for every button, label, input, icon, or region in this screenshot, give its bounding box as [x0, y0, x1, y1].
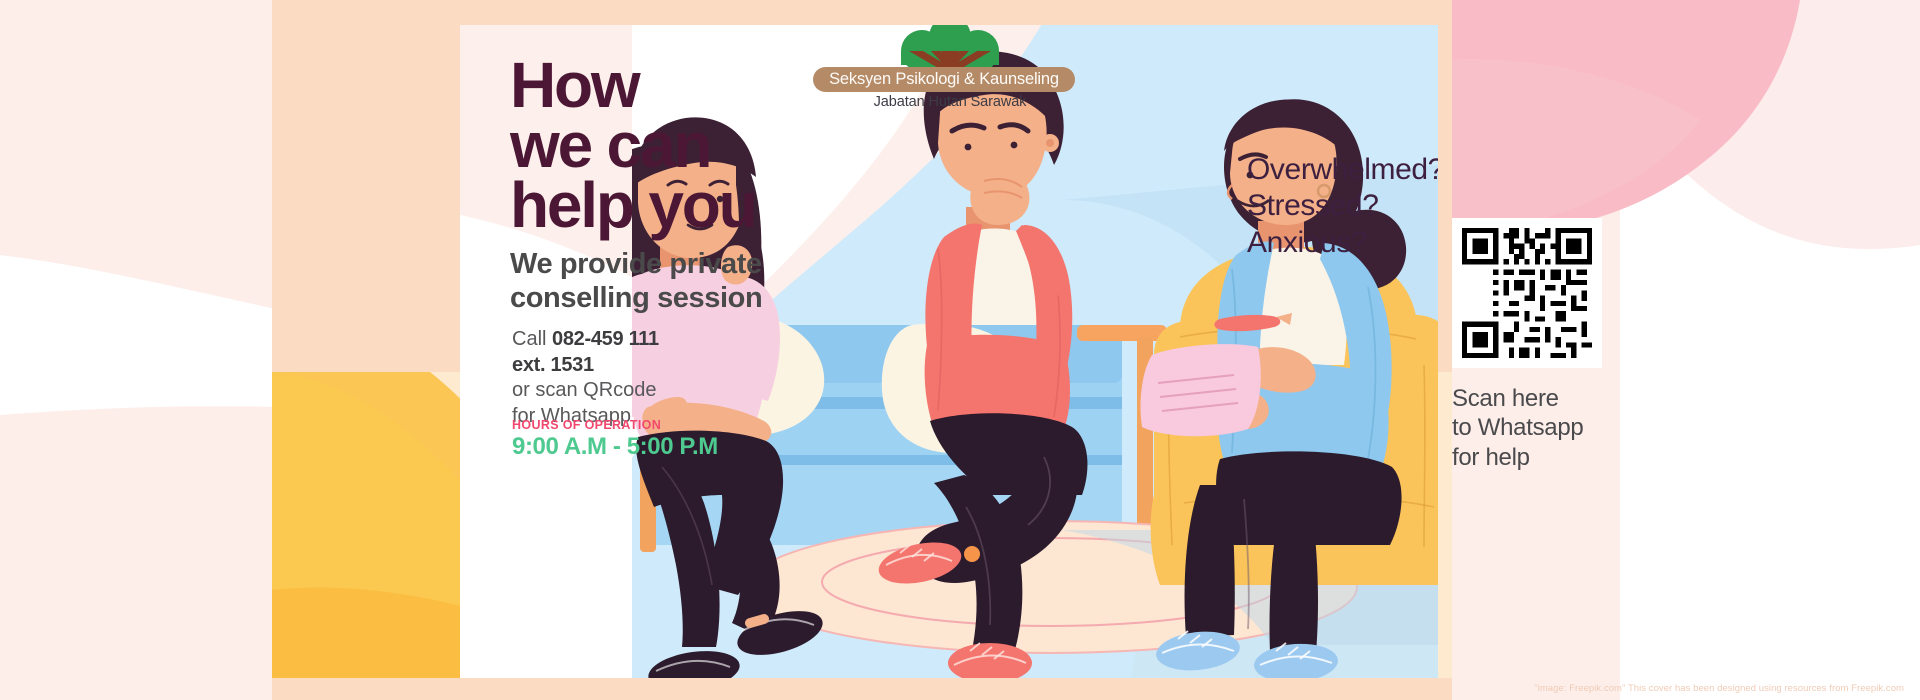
- phone-extension: ext. 1531: [512, 354, 594, 376]
- logo-banner-text: Seksyen Psikologi & Kaunseling: [813, 67, 1075, 92]
- contact-block: Call 082-459 111 ext. 1531 or scan QRcod…: [512, 327, 762, 429]
- image-credit: "image: Freepik.com" This cover has been…: [1534, 683, 1904, 694]
- page-title: How we can help you: [510, 55, 756, 235]
- left-text-column: How we can help you We provide private c…: [460, 25, 770, 678]
- subheadline: We provide private conselling session: [510, 247, 780, 315]
- qr-panel: Scan here to Whatsapp for help: [1452, 218, 1637, 472]
- call-prefix: Call: [512, 328, 552, 350]
- hours-label: HOURS OF OPERATION: [512, 418, 661, 432]
- organization-logo: Seksyen Psikologi & Kaunseling Jabatan H…: [785, 25, 1115, 135]
- poster-card: Overwhelmed? Stressed? Anxious? How we c…: [460, 25, 1438, 678]
- qr-code[interactable]: [1452, 218, 1602, 368]
- call-line-3: or scan QRcode: [512, 379, 657, 401]
- hours-value: 9:00 A.M - 5:00 P.M: [512, 433, 718, 461]
- qr-code-icon: [1462, 228, 1592, 358]
- phone-number[interactable]: 082-459 111: [552, 328, 659, 350]
- qr-caption: Scan here to Whatsapp for help: [1452, 384, 1637, 472]
- logo-sub-text: Jabatan Hutan Sarawak: [785, 94, 1115, 110]
- questions-text: Overwhelmed? Stressed? Anxious?: [1247, 152, 1438, 261]
